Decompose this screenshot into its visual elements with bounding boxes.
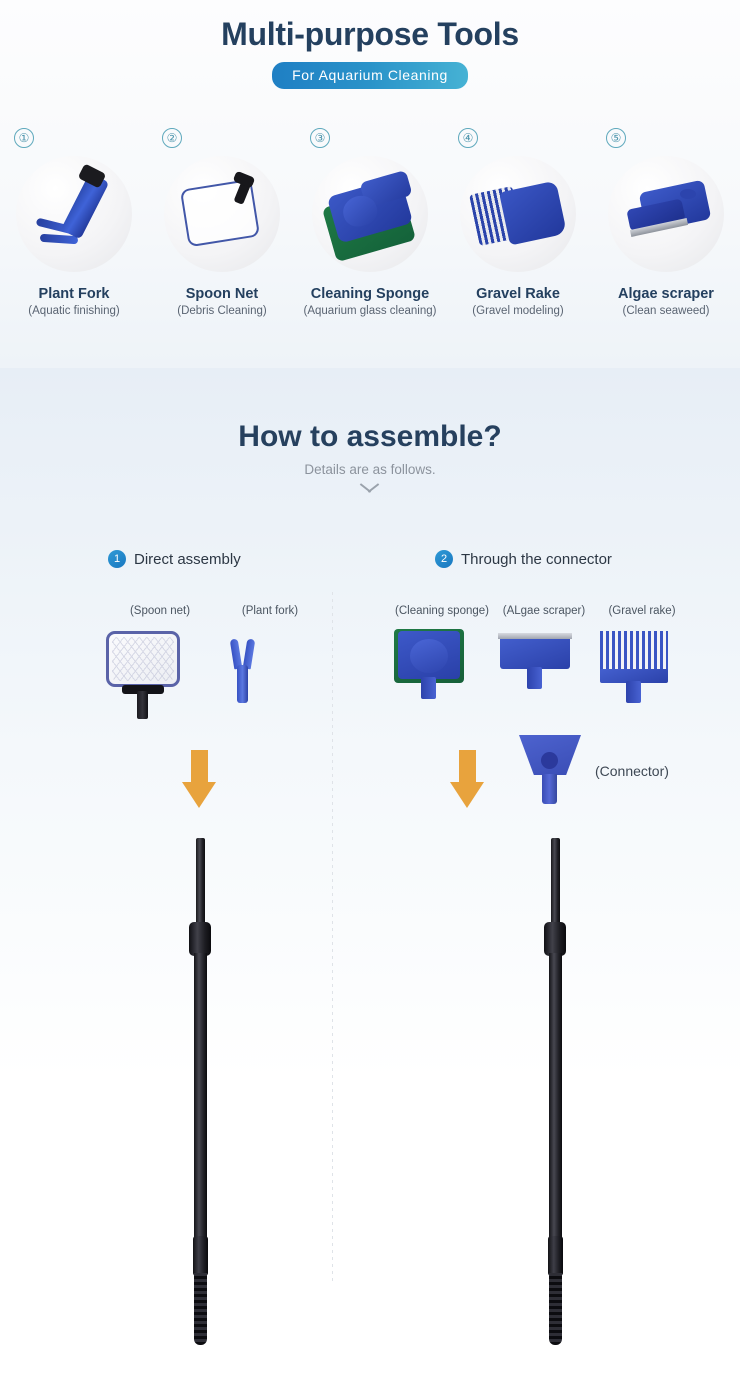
cleaning-sponge-icon <box>312 156 428 272</box>
tool-sub-2: (Debris Cleaning) <box>148 305 296 317</box>
spoon-net-icon <box>164 156 280 272</box>
method-1-badge: 1 <box>108 550 126 568</box>
part-cleaning-sponge[interactable]: (Cleaning sponge) <box>390 605 494 717</box>
tool-number-4: ④ <box>458 128 478 148</box>
tool-card-plant-fork[interactable]: ① Plant Fork (Aquatic finishing) <box>0 120 148 317</box>
assemble-section: How to assemble? Details are as follows. <box>0 368 740 1384</box>
tool-name-1: Plant Fork <box>0 286 148 302</box>
method-2-parts: (Cleaning sponge) (ALgae scraper) (Grave… <box>390 605 690 717</box>
telescopic-pole-1 <box>180 838 220 1348</box>
badge-container: For Aquarium Cleaning <box>0 62 740 89</box>
part-caption-plant-fork: (Plant fork) <box>220 605 320 617</box>
part-caption-gravel-rake: (Gravel rake) <box>594 605 690 617</box>
part-algae-scraper[interactable]: (ALgae scraper) <box>494 605 594 717</box>
gravel-rake-assembly-icon <box>594 625 690 717</box>
connector-group[interactable]: (Connector) <box>517 735 583 807</box>
hero-section: Multi-purpose Tools For Aquarium Cleanin… <box>0 0 740 368</box>
plant-fork-assembly-icon <box>220 625 320 717</box>
tool-card-cleaning-sponge[interactable]: ③ Cleaning Sponge (Aquarium glass cleani… <box>296 120 444 317</box>
algae-scraper-icon <box>608 156 724 272</box>
tool-number-3: ③ <box>310 128 330 148</box>
tool-card-gravel-rake[interactable]: ④ Gravel Rake (Gravel modeling) <box>444 120 592 317</box>
tool-photo-gravel-rake <box>460 156 576 272</box>
tools-row: ① Plant Fork (Aquatic finishing) ② Spoon… <box>0 120 740 317</box>
telescopic-pole-2 <box>535 838 575 1348</box>
tool-number-1: ① <box>14 128 34 148</box>
tool-name-3: Cleaning Sponge <box>296 286 444 302</box>
methods-divider <box>332 592 333 1282</box>
method-2-header: 2 Through the connector <box>435 550 612 568</box>
tool-card-spoon-net[interactable]: ② Spoon Net (Debris Cleaning) <box>148 120 296 317</box>
arrow-down-icon-1 <box>182 750 216 808</box>
connector-label: (Connector) <box>595 763 669 779</box>
tool-name-2: Spoon Net <box>148 286 296 302</box>
part-caption-spoon-net: (Spoon net) <box>100 605 220 617</box>
tool-photo-plant-fork <box>16 156 132 272</box>
part-spoon-net[interactable]: (Spoon net) <box>100 605 220 717</box>
spoon-net-assembly-icon <box>100 625 220 717</box>
connector-icon <box>517 735 583 807</box>
method-1-label: Direct assembly <box>134 551 241 568</box>
page-title: Multi-purpose Tools <box>0 0 740 53</box>
gravel-rake-icon <box>460 156 576 272</box>
part-caption-cleaning-sponge: (Cleaning sponge) <box>390 605 494 617</box>
method-2-label: Through the connector <box>461 551 612 568</box>
tool-card-algae-scraper[interactable]: ⑤ Algae scraper (Clean seaweed) <box>592 120 740 317</box>
assemble-title: How to assemble? <box>0 368 740 454</box>
cleaning-sponge-assembly-icon <box>390 625 494 717</box>
tool-number-2: ② <box>162 128 182 148</box>
tool-number-5: ⑤ <box>606 128 626 148</box>
method-1-header: 1 Direct assembly <box>108 550 241 568</box>
tool-sub-4: (Gravel modeling) <box>444 305 592 317</box>
part-plant-fork[interactable]: (Plant fork) <box>220 605 320 717</box>
method-1-parts: (Spoon net) (Plant fork) <box>100 605 320 717</box>
tool-sub-5: (Clean seaweed) <box>592 305 740 317</box>
part-gravel-rake[interactable]: (Gravel rake) <box>594 605 690 717</box>
tool-photo-algae-scraper <box>608 156 724 272</box>
tool-photo-spoon-net <box>164 156 280 272</box>
assemble-subtitle: Details are as follows. <box>0 462 740 477</box>
tool-sub-1: (Aquatic finishing) <box>0 305 148 317</box>
subtitle-badge: For Aquarium Cleaning <box>272 62 468 89</box>
arrow-down-icon-2 <box>450 750 484 808</box>
tool-name-5: Algae scraper <box>592 286 740 302</box>
plant-fork-icon <box>16 156 132 272</box>
tool-photo-cleaning-sponge <box>312 156 428 272</box>
tool-name-4: Gravel Rake <box>444 286 592 302</box>
tool-sub-3: (Aquarium glass cleaning) <box>296 305 444 317</box>
method-2-badge: 2 <box>435 550 453 568</box>
chevron-down-icon <box>359 486 381 498</box>
algae-scraper-assembly-icon <box>494 625 594 717</box>
part-caption-algae-scraper: (ALgae scraper) <box>494 605 594 617</box>
